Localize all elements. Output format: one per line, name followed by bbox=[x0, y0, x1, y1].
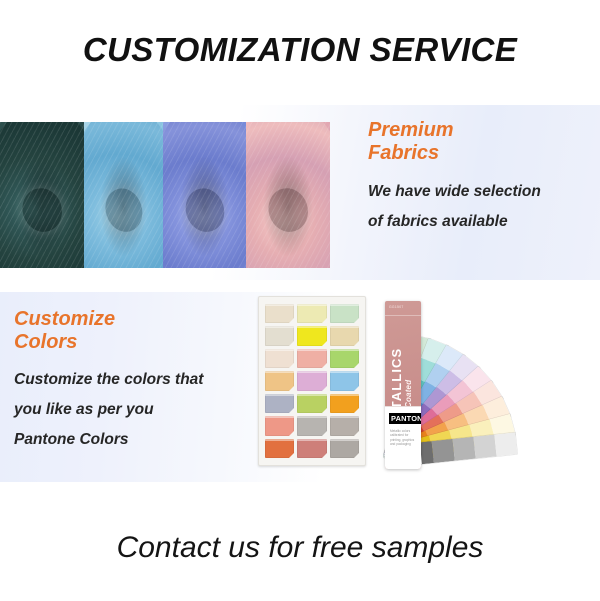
fabric-sheen bbox=[246, 122, 330, 268]
swatch-chip bbox=[265, 326, 294, 345]
pantone-logo: PANTONE® bbox=[389, 413, 421, 424]
banner-title-bar: CUSTOMIZATION SERVICE bbox=[0, 0, 600, 100]
premium-fabrics-heading-line2: Fabrics bbox=[368, 142, 593, 165]
premium-fabrics-body-line2: of fabrics available bbox=[368, 207, 593, 237]
pantone-fan-deck: GG1507 METALLICS Solid Coated PANTONE® M… bbox=[383, 295, 595, 473]
section-premium-fabrics: Premium Fabrics We have wide selection o… bbox=[0, 105, 600, 280]
customization-service-banner: CUSTOMIZATION SERVICE bbox=[0, 0, 600, 601]
premium-fabrics-text-block: Premium Fabrics We have wide selection o… bbox=[368, 119, 593, 237]
swatch-chip bbox=[330, 349, 359, 368]
swatch-chip bbox=[330, 326, 359, 345]
section-customize-colors: Customize Colors Customize the colors th… bbox=[0, 292, 600, 482]
swatch-chip bbox=[297, 349, 326, 368]
swatch-chip bbox=[330, 439, 359, 458]
swatch-chip bbox=[297, 416, 326, 435]
customize-colors-body: Customize the colors that you like as pe… bbox=[14, 365, 264, 455]
color-swatch-card bbox=[258, 296, 366, 466]
premium-fabrics-body-line1: We have wide selection bbox=[368, 177, 593, 207]
customize-colors-body-line1: Customize the colors that bbox=[14, 365, 264, 395]
swatch-chip bbox=[265, 394, 294, 413]
fabric-sheen bbox=[163, 122, 246, 268]
swatch-chip bbox=[265, 304, 294, 323]
swatch-chip bbox=[330, 394, 359, 413]
fabric-sheen bbox=[84, 122, 163, 268]
swatch-chip bbox=[265, 439, 294, 458]
premium-fabrics-body: We have wide selection of fabrics availa… bbox=[368, 177, 593, 237]
footer-cta-text: Contact us for free samples bbox=[117, 531, 484, 565]
fabric-sheen bbox=[0, 122, 84, 268]
customize-colors-body-line3: Pantone Colors bbox=[14, 425, 264, 455]
banner-footer-bar: Contact us for free samples bbox=[0, 494, 600, 601]
swatch-chip bbox=[297, 394, 326, 413]
customize-colors-text-block: Customize Colors Customize the colors th… bbox=[14, 308, 264, 455]
swatch-chip bbox=[265, 416, 294, 435]
fabric-swatch-strip bbox=[0, 122, 330, 268]
fan-deck-cover-footer: PANTONE® Metallic colors calibrated for … bbox=[385, 406, 421, 469]
swatch-chip bbox=[297, 304, 326, 323]
fabric-swatch-light-blue bbox=[84, 122, 163, 268]
swatch-chip bbox=[330, 371, 359, 390]
fan-deck-cover-code: GG1507 bbox=[385, 301, 421, 309]
customize-colors-heading-line1: Customize bbox=[14, 308, 264, 331]
fan-deck-cover: GG1507 METALLICS Solid Coated PANTONE® M… bbox=[385, 301, 421, 469]
page-title: CUSTOMIZATION SERVICE bbox=[83, 31, 517, 69]
fabric-swatch-periwinkle bbox=[163, 122, 246, 268]
swatch-chip bbox=[297, 371, 326, 390]
customize-colors-heading-line2: Colors bbox=[14, 331, 264, 354]
swatch-chip bbox=[265, 349, 294, 368]
swatch-chip bbox=[330, 416, 359, 435]
swatch-chip bbox=[265, 371, 294, 390]
fabric-swatch-dusty-pink bbox=[246, 122, 330, 268]
swatch-chip bbox=[330, 304, 359, 323]
swatch-chip bbox=[297, 439, 326, 458]
fan-deck-fine-print: Metallic colors calibrated for printing,… bbox=[390, 429, 418, 447]
premium-fabrics-heading-line1: Premium bbox=[368, 119, 593, 142]
fabric-swatch-dark-teal bbox=[0, 122, 84, 268]
swatch-chip bbox=[297, 326, 326, 345]
customize-colors-body-line2: you like as per you bbox=[14, 395, 264, 425]
